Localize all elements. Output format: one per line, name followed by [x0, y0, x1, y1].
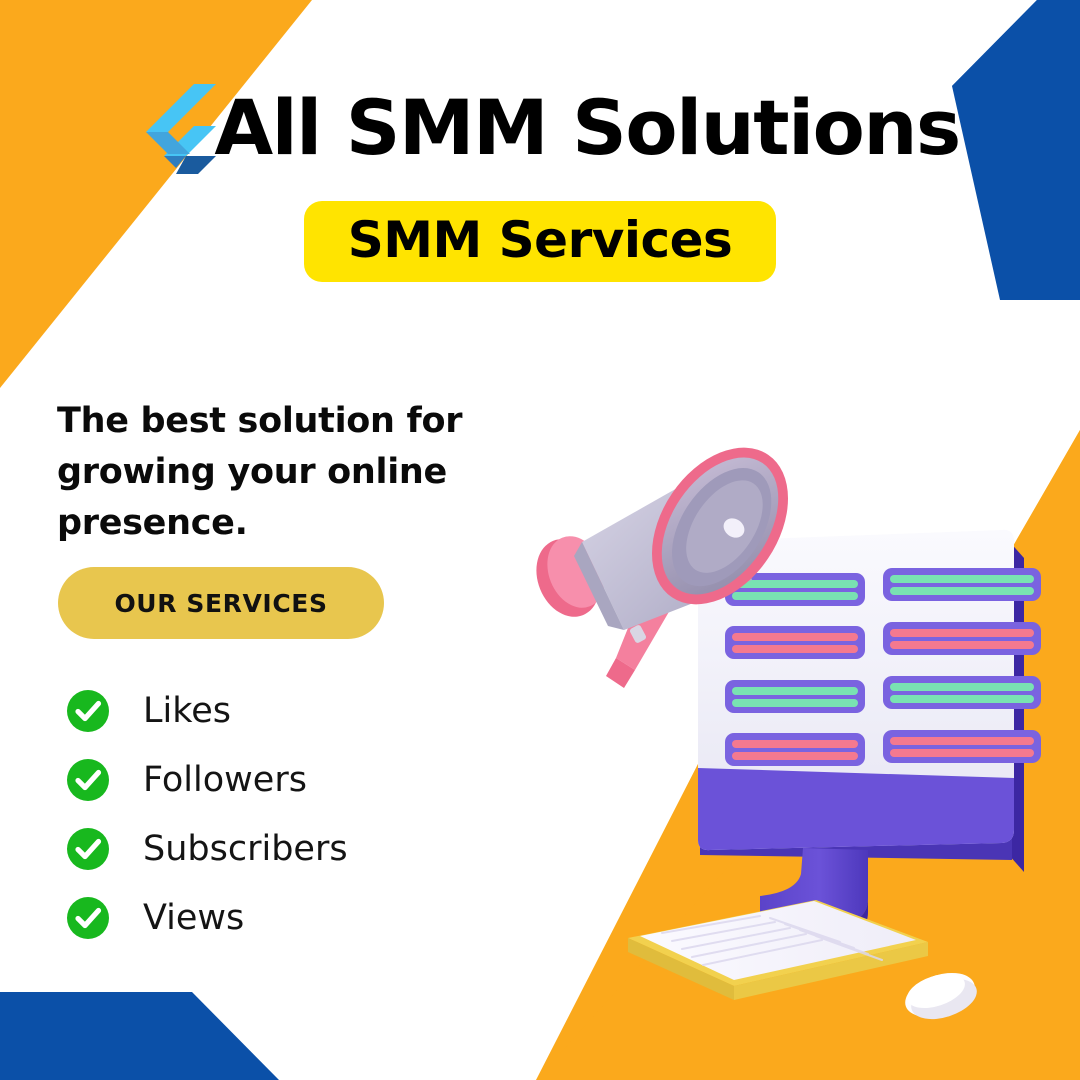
flutter-logo-icon [138, 82, 218, 174]
monitor-megaphone-illustration [520, 430, 1080, 1080]
title-row: All SMM Solutions [138, 82, 959, 174]
service-label: Subscribers [143, 829, 348, 869]
our-services-label: OUR SERVICES [114, 589, 327, 618]
service-label: Followers [143, 760, 307, 800]
page-title: All SMM Solutions [214, 90, 959, 166]
list-item[interactable]: Views [66, 883, 486, 952]
list-item[interactable]: Likes [66, 676, 486, 745]
smm-services-poster: All SMM Solutions SMM Services The best … [0, 0, 1080, 1080]
header: All SMM Solutions SMM Services [0, 82, 1080, 282]
monitor-screen [698, 530, 1041, 872]
check-circle-icon [66, 896, 110, 940]
list-item[interactable]: Followers [66, 745, 486, 814]
smm-services-badge: SMM Services [304, 201, 777, 282]
smm-services-badge-label: SMM Services [348, 211, 733, 269]
check-circle-icon [66, 827, 110, 871]
list-item[interactable]: Subscribers [66, 814, 486, 883]
service-list: Likes Followers Subscribers [66, 676, 486, 952]
check-circle-icon [66, 689, 110, 733]
service-label: Likes [143, 691, 231, 731]
mouse-icon [900, 965, 982, 1027]
check-circle-icon [66, 758, 110, 802]
tagline: The best solution for growing your onlin… [57, 396, 597, 548]
service-label: Views [143, 898, 244, 938]
keyboard-icon [628, 900, 928, 1000]
our-services-pill: OUR SERVICES [58, 567, 384, 639]
